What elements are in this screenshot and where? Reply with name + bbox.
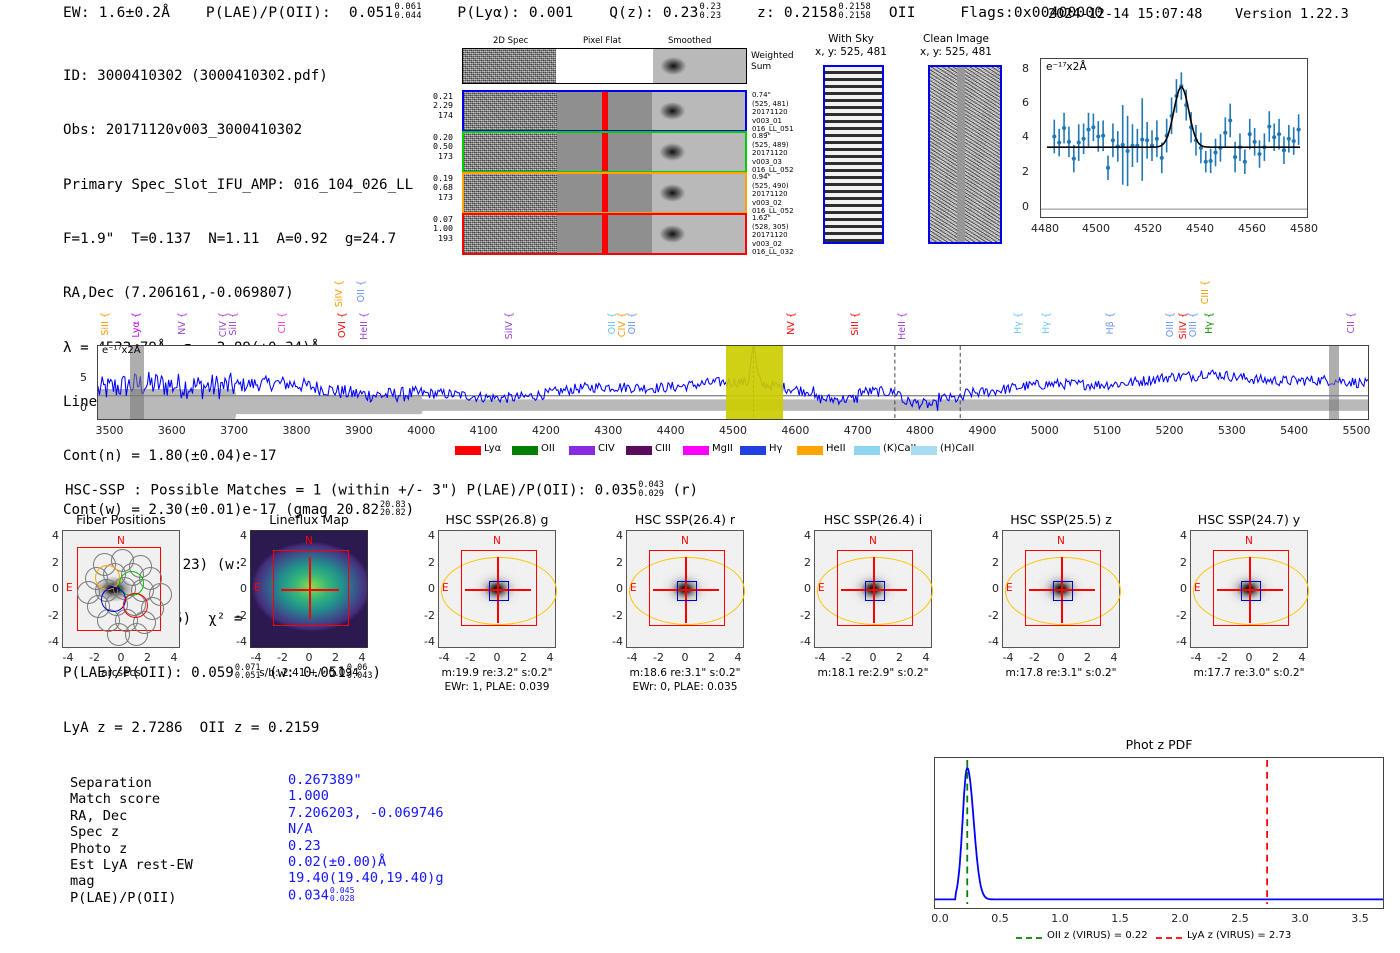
header-plya: P(Lyα): 0.001 (457, 5, 573, 21)
compass-n: N (1245, 535, 1253, 547)
grey-band-2 (1329, 346, 1339, 419)
spec-ytick-5: 5 (80, 371, 87, 384)
compass-e: E (254, 582, 261, 594)
fiber-red (123, 593, 148, 618)
fiber-row-3 (462, 172, 747, 214)
info-id: ID: 3000410302 (3000410302.pdf) (63, 67, 414, 85)
match-key-6: mag (70, 873, 95, 889)
spec-xtick-3500: 3500 (93, 424, 125, 437)
panel-4-xtick-3: 2 (890, 651, 910, 664)
panel-2-ytick-1: -2 (419, 609, 435, 622)
fit-ytick-2: 2 (1022, 165, 1029, 178)
panel-4-ytick-0: -4 (795, 635, 811, 648)
spec-xtick-4300: 4300 (592, 424, 624, 437)
panel-1-ytick-3: 2 (231, 556, 247, 569)
compass-n: N (1057, 535, 1065, 547)
spec-xtick-5500: 5500 (1341, 424, 1373, 437)
match-key-0: Separation (70, 775, 152, 791)
compass-n: N (305, 535, 313, 547)
panel-6-xtick-0: -4 (1186, 651, 1206, 664)
blue-box-2 (489, 581, 509, 601)
panel-3-xtick-4: 4 (728, 651, 748, 664)
fiber-orange (95, 565, 120, 590)
match-value-3: N/A (288, 821, 313, 837)
panel-caption1-3: m:18.6 re:3.1" s:0.2" (602, 667, 768, 679)
spec2d-panel: 2D Spec Pixel Flat Smoothed Weighted Sum… (455, 36, 755, 251)
photz-title: Phot z PDF (934, 737, 1384, 752)
photz-svg (935, 758, 1383, 908)
spec-xtick-5100: 5100 (1091, 424, 1123, 437)
panel-4-ytick-1: -2 (795, 609, 811, 622)
photz-pdf-plot (934, 757, 1384, 909)
match-key-4: Photo z (70, 841, 127, 857)
panel-6-ytick-0: -4 (1171, 635, 1187, 648)
header-plae-label: P(LAE)/P(OII): (206, 5, 331, 21)
cutout-2: NE (438, 530, 556, 648)
compass-n: N (681, 535, 689, 547)
info-cont-n: Cont(n) = 1.80(±0.04)e-17 (63, 447, 414, 465)
photz-legend-dash-0 (1016, 933, 1042, 943)
cutout-1: NE (250, 530, 368, 648)
photz-xtick-1: 1.0 (1044, 912, 1076, 925)
panel-1-xtick-2: 0 (299, 651, 319, 664)
panel-5-xtick-1: -2 (1025, 651, 1045, 664)
fit-xtick-4560: 4560 (1238, 222, 1266, 235)
fiber-circle-20 (125, 623, 148, 646)
panel-0-ytick-3: 2 (43, 556, 59, 569)
photz-xtick-2-5: 2.5 (1224, 912, 1256, 925)
line-label-civ-3: CIV { (218, 312, 229, 337)
panel-2-xtick-4: 4 (540, 651, 560, 664)
panel-5-xtick-3: 2 (1078, 651, 1098, 664)
panel-4-xtick-0: -4 (810, 651, 830, 664)
panel-5-ytick-3: 2 (983, 556, 999, 569)
panel-2-ytick-3: 2 (419, 556, 435, 569)
panel-caption1-4: m:18.1 re:2.9" s:0.2" (790, 667, 956, 679)
cross-v-1 (309, 557, 311, 619)
clean-image (928, 65, 1002, 244)
panel-caption1-6: m:17.7 re:3.0" s:0.2" (1166, 667, 1332, 679)
header-z: z: 0.2158 (757, 5, 837, 21)
spec-xtick-3700: 3700 (218, 424, 250, 437)
panel-5-xtick-4: 4 (1104, 651, 1124, 664)
panel-3-ytick-0: -4 (607, 635, 623, 648)
line-label-lyα-1: Lyα { (131, 312, 142, 338)
line-label-hγ-17: Hγ { (1013, 312, 1024, 334)
hsc-heading: HSC-SSP : Possible Matches = 1 (within +… (65, 482, 698, 499)
compass-n: N (869, 535, 877, 547)
line-label-siiv-10: SiIV { (504, 312, 515, 339)
info-spec-slot: Primary Spec_Slot_IFU_AMP: 016_104_026_L… (63, 176, 414, 194)
line-label-siiv-7: SiIV { (334, 280, 345, 307)
panel-title-6: HSC SSP(24.7) y (1160, 512, 1338, 527)
fit-units-annotation: e⁻¹⁷x2Å (1046, 61, 1087, 73)
compass-e: E (66, 582, 73, 594)
panel-0-ytick-1: -2 (43, 609, 59, 622)
cutout-4: NE (814, 530, 932, 648)
info-obs: Obs: 20171120v003_3000410302 (63, 121, 414, 139)
col-header-smoothed: Smoothed (668, 36, 711, 46)
header-plae-value: 0.051 (349, 5, 394, 21)
header-summary: EW: 1.6±0.2Å P(LAE)/P(OII): 0.0510.0610.… (63, 4, 1103, 22)
fiber-row-2-left: 0.200.50173 (427, 133, 453, 161)
panel-5-ytick-2: 0 (983, 582, 999, 595)
fiber-row-4-right: 1.62"(528, 305) 20171120v003_02016_LL_03… (752, 214, 798, 257)
fiber-row-2 (462, 131, 747, 173)
panel-1-xtick-3: 2 (326, 651, 346, 664)
blue-box-3 (677, 581, 697, 601)
blue-box-4 (865, 581, 885, 601)
panel-5-ytick-4: 4 (983, 529, 999, 542)
panel-6-ytick-4: 4 (1171, 529, 1187, 542)
panel-0-ytick-4: 4 (43, 529, 59, 542)
col-header-pixelflat: Pixel Flat (583, 36, 621, 46)
panel-3-ytick-3: 2 (607, 556, 623, 569)
panel-0-ytick-2: 0 (43, 582, 59, 595)
spec-xtick-4000: 4000 (405, 424, 437, 437)
panel-1-ytick-1: -2 (231, 609, 247, 622)
panel-3-ytick-2: 0 (607, 582, 623, 595)
photz-xtick-2: 2.0 (1164, 912, 1196, 925)
panel-caption2-3: EWr: 0, PLAE: 0.035 (602, 681, 768, 693)
panel-2-ytick-0: -4 (419, 635, 435, 648)
photz-xtick-3: 3.0 (1284, 912, 1316, 925)
panel-3-xtick-0: -4 (622, 651, 642, 664)
fiber-row-1-right: 0.74"(525, 481) 20171120v003_01016_LL_05… (752, 91, 798, 134)
legend-label-mgii: MgII (712, 443, 733, 454)
info-redshifts: LyA z = 2.7286 OII z = 0.2159 (63, 719, 414, 737)
line-label-hγ-24: Hγ { (1204, 312, 1215, 334)
panel-0-xtick-0: -4 (58, 651, 78, 664)
photz-xtick-0-5: 0.5 (984, 912, 1016, 925)
fit-ytick-0: 0 (1022, 200, 1029, 213)
panel-caption1-5: m:17.8 re:3.1" s:0.2" (978, 667, 1144, 679)
spec-xtick-5300: 5300 (1216, 424, 1248, 437)
line-label-ovi-6: OVI { (337, 312, 348, 338)
fiber-row-2-right: 0.89"(525, 489) 20171120v003_03016_LL_05… (752, 132, 798, 175)
fiber-row-1 (462, 90, 747, 132)
line-label-oiii-20: OIII { (1165, 312, 1176, 337)
legend-swatch-kcaii (854, 446, 880, 455)
line-label-oiii-22: OIII { (1188, 312, 1199, 337)
panel-0-xtick-1: -2 (85, 651, 105, 664)
spec-xtick-4600: 4600 (779, 424, 811, 437)
panel-4-ytick-2: 0 (795, 582, 811, 595)
spec-xtick-4700: 4700 (842, 424, 874, 437)
panel-2-xtick-1: -2 (461, 651, 481, 664)
panel-3-ytick-1: -2 (607, 609, 623, 622)
cutout-5: NE (1002, 530, 1120, 648)
fit-xtick-4540: 4540 (1186, 222, 1214, 235)
blue-box-5 (1053, 581, 1073, 601)
fit-ytick-4: 4 (1022, 130, 1029, 143)
header-qz: Q(z): 0.23 (609, 5, 698, 21)
line-label-heii-9: HeII { (359, 312, 370, 340)
spec-xtick-3900: 3900 (343, 424, 375, 437)
panel-6-xtick-2: 0 (1239, 651, 1259, 664)
photz-legend-dash-1 (1156, 933, 1182, 943)
col-header-2dspec: 2D Spec (493, 36, 528, 46)
legend-swatch-heii (797, 446, 823, 455)
legend-label-hcaii: (H)CaII (940, 443, 974, 454)
compass-n: N (117, 535, 125, 547)
panel-0-xtick-3: 2 (138, 651, 158, 664)
line-label-siii-15: SiII { (850, 312, 861, 336)
spec-xtick-4900: 4900 (966, 424, 998, 437)
fit-ytick-8: 8 (1022, 62, 1029, 75)
header-timestamp-version: 2024-12-14 15:07:48 Version 1.22.3 (1048, 6, 1349, 22)
panel-4-xtick-4: 4 (916, 651, 936, 664)
line-label-heii-16: HeII { (897, 312, 908, 340)
version: Version 1.22.3 (1235, 6, 1349, 22)
panel-6-xtick-1: -2 (1213, 651, 1233, 664)
panel-3-xtick-3: 2 (702, 651, 722, 664)
panel-4-ytick-4: 4 (795, 529, 811, 542)
line-label-ciii-23: CIII { (1200, 280, 1211, 304)
panel-caption2-2: EWr: 1, PLAE: 0.039 (414, 681, 580, 693)
panel-5-ytick-1: -2 (983, 609, 999, 622)
header-ew: EW: 1.6±0.2Å (63, 5, 170, 21)
line-label-hγ-18: Hγ { (1041, 312, 1052, 334)
with-sky-title: With Skyx, y: 525, 481 (806, 33, 896, 58)
spec-xtick-5000: 5000 (1029, 424, 1061, 437)
timestamp: 2024-12-14 15:07:48 (1048, 6, 1202, 22)
spec-xtick-4400: 4400 (655, 424, 687, 437)
panel-1-ytick-4: 4 (231, 529, 247, 542)
panel-4-xtick-1: -2 (837, 651, 857, 664)
match-key-2: RA, Dec (70, 808, 127, 824)
fiber-row-1-left: 0.212.29174 (427, 92, 453, 120)
panel-3-xtick-1: -2 (649, 651, 669, 664)
fiber-row-4 (462, 213, 747, 255)
spec-xtick-5200: 5200 (1153, 424, 1185, 437)
panel-1-xtick-4: 4 (352, 651, 372, 664)
photz-xtick-0: 0.0 (924, 912, 956, 925)
panel-1-ytick-0: -4 (231, 635, 247, 648)
panel-6-xtick-3: 2 (1266, 651, 1286, 664)
line-label-cii-25: CII { (1346, 312, 1357, 334)
spec-xtick-4500: 4500 (717, 424, 749, 437)
legend-swatch-hcaii (911, 446, 937, 455)
panel-2-xtick-2: 0 (487, 651, 507, 664)
match-value-0: 0.267389" (288, 772, 362, 788)
panel-5-xtick-2: 0 (1051, 651, 1071, 664)
spec-xtick-3800: 3800 (281, 424, 313, 437)
spec-ytick-0: 0 (80, 401, 87, 414)
panel-0-xtick-2: 0 (111, 651, 131, 664)
legend-swatch-mgii (683, 446, 709, 455)
fit-ytick-6: 6 (1022, 96, 1029, 109)
legend-label-oii: OII (541, 443, 555, 454)
clean-image-title: Clean Imagex, y: 525, 481 (906, 33, 1006, 58)
panel-title-5: HSC SSP(25.5) z (972, 512, 1150, 527)
match-key-3: Spec z (70, 824, 119, 840)
legend-label-hγ: Hγ (769, 443, 782, 454)
line-label-hβ-19: Hβ { (1105, 312, 1116, 335)
spectrum-units-annotation: e⁻¹⁷x2Å (102, 345, 141, 356)
panel-1-xtick-0: -4 (246, 651, 266, 664)
match-value-1: 1.000 (288, 788, 329, 804)
cutout-0: NE (62, 530, 180, 648)
grey-band-1 (130, 346, 144, 419)
fit-svg (1041, 59, 1307, 217)
panel-title-4: HSC SSP(26.4) i (784, 512, 962, 527)
full-spectrum-plot: e⁻¹⁷x2Å (97, 345, 1369, 420)
panel-1-xtick-1: -2 (273, 651, 293, 664)
panel-caption1-1: s/b: 2.41 +/- 0.094 (226, 667, 392, 679)
match-value-4: 0.23 (288, 838, 321, 854)
line-label-oii-8: OII { (356, 280, 367, 302)
panel-2-xtick-0: -4 (434, 651, 454, 664)
emission-line-fit-plot: e⁻¹⁷x2Å (1040, 58, 1308, 218)
header-z-type: OII (889, 5, 916, 21)
line-label-siii-0: SiII { (100, 312, 111, 336)
match-value-5: 0.02(±0.00)Å (288, 854, 386, 870)
spec-xtick-4800: 4800 (904, 424, 936, 437)
match-key-5: Est LyA rest-EW (70, 857, 193, 873)
legend-label-civ: CIV (598, 443, 615, 454)
match-value-6: 19.40(19.40,19.40)g (288, 870, 444, 886)
panel-5-ytick-0: -4 (983, 635, 999, 648)
legend-swatch-lyα (455, 446, 481, 455)
panel-5-xtick-0: -4 (998, 651, 1018, 664)
panel-0-ytick-0: -4 (43, 635, 59, 648)
panel-2-ytick-2: 0 (419, 582, 435, 595)
panel-3-ytick-4: 4 (607, 529, 623, 542)
spec-xtick-4100: 4100 (468, 424, 500, 437)
spec-xtick-4200: 4200 (530, 424, 562, 437)
panel-3-xtick-2: 0 (675, 651, 695, 664)
fit-xtick-4580: 4580 (1290, 222, 1318, 235)
weighted-sum-row (462, 48, 747, 84)
line-label-cii-5: CII { (277, 312, 288, 334)
fit-xtick-4500: 4500 (1082, 222, 1110, 235)
match-key-1: Match score (70, 791, 160, 807)
panel-title-3: HSC SSP(26.4) r (596, 512, 774, 527)
panel-2-ytick-4: 4 (419, 529, 435, 542)
photz-xtick-3-5: 3.5 (1344, 912, 1376, 925)
cutout-3: NE (626, 530, 744, 648)
fiber-row-4-left: 0.071.00193 (427, 215, 453, 243)
panel-6-ytick-3: 2 (1171, 556, 1187, 569)
line-label-nv-2: NV { (177, 312, 188, 335)
with-sky-image (823, 65, 884, 244)
blue-box-6 (1241, 581, 1261, 601)
legend-label-lyα: Lyα (484, 443, 501, 454)
fit-xtick-4480: 4480 (1031, 222, 1059, 235)
spec-xtick-3600: 3600 (156, 424, 188, 437)
fiber-row-3-right: 0.94"(525, 490) 20171120v003_02016_LL_05… (752, 173, 798, 216)
panel-0-xtick-4: 4 (164, 651, 184, 664)
photz-legend-label-1: LyA z (VIRUS) = 2.73 (1187, 930, 1291, 941)
photz-legend-label-0: OII z (VIRUS) = 0.22 (1047, 930, 1148, 941)
match-value-2: 7.206203, -0.069746 (288, 805, 444, 821)
panel-xlabel-0: arcsecs (42, 667, 200, 679)
line-label-oii-13: OII { (627, 312, 638, 334)
panel-title-1: Lineflux Map (220, 512, 398, 527)
spec-xtick-5400: 5400 (1278, 424, 1310, 437)
legend-swatch-ciii (626, 446, 652, 455)
panel-caption1-2: m:19.9 re:3.2" s:0.2" (414, 667, 580, 679)
legend-label-heii: HeII (826, 443, 846, 454)
panel-6-xtick-4: 4 (1292, 651, 1312, 664)
match-value-7: 0.0340.0450.028 (288, 887, 354, 904)
fiber-row-3-left: 0.190.68173 (427, 174, 453, 202)
panel-6-ytick-2: 0 (1171, 582, 1187, 595)
cutout-6: NE (1190, 530, 1308, 648)
weighted-sum-label: Weighted Sum (751, 51, 794, 73)
match-key-7: P(LAE)/P(OII) (70, 890, 176, 906)
red-box-1 (273, 550, 349, 626)
line-label-nv-14: NV { (786, 312, 797, 335)
photz-xtick-1-5: 1.5 (1104, 912, 1136, 925)
panel-4-ytick-3: 2 (795, 556, 811, 569)
legend-swatch-civ (569, 446, 595, 455)
panel-4-xtick-2: 0 (863, 651, 883, 664)
panel-6-ytick-1: -2 (1171, 609, 1187, 622)
panel-1-ytick-2: 0 (231, 582, 247, 595)
legend-swatch-oii (512, 446, 538, 455)
panel-title-2: HSC SSP(26.8) g (408, 512, 586, 527)
line-label-siii-4: SiII { (228, 312, 239, 336)
fiber-blue (101, 587, 126, 612)
fit-xtick-4520: 4520 (1134, 222, 1162, 235)
panel-title-0: Fiber Positions (32, 512, 210, 527)
highlight-band (726, 346, 783, 419)
panel-2-xtick-3: 2 (514, 651, 534, 664)
info-params: F=1.9" T=0.137 N=1.11 A=0.92 g=24.7 (63, 230, 414, 248)
legend-label-ciii: CIII (655, 443, 671, 454)
legend-swatch-hγ (740, 446, 766, 455)
compass-n: N (493, 535, 501, 547)
